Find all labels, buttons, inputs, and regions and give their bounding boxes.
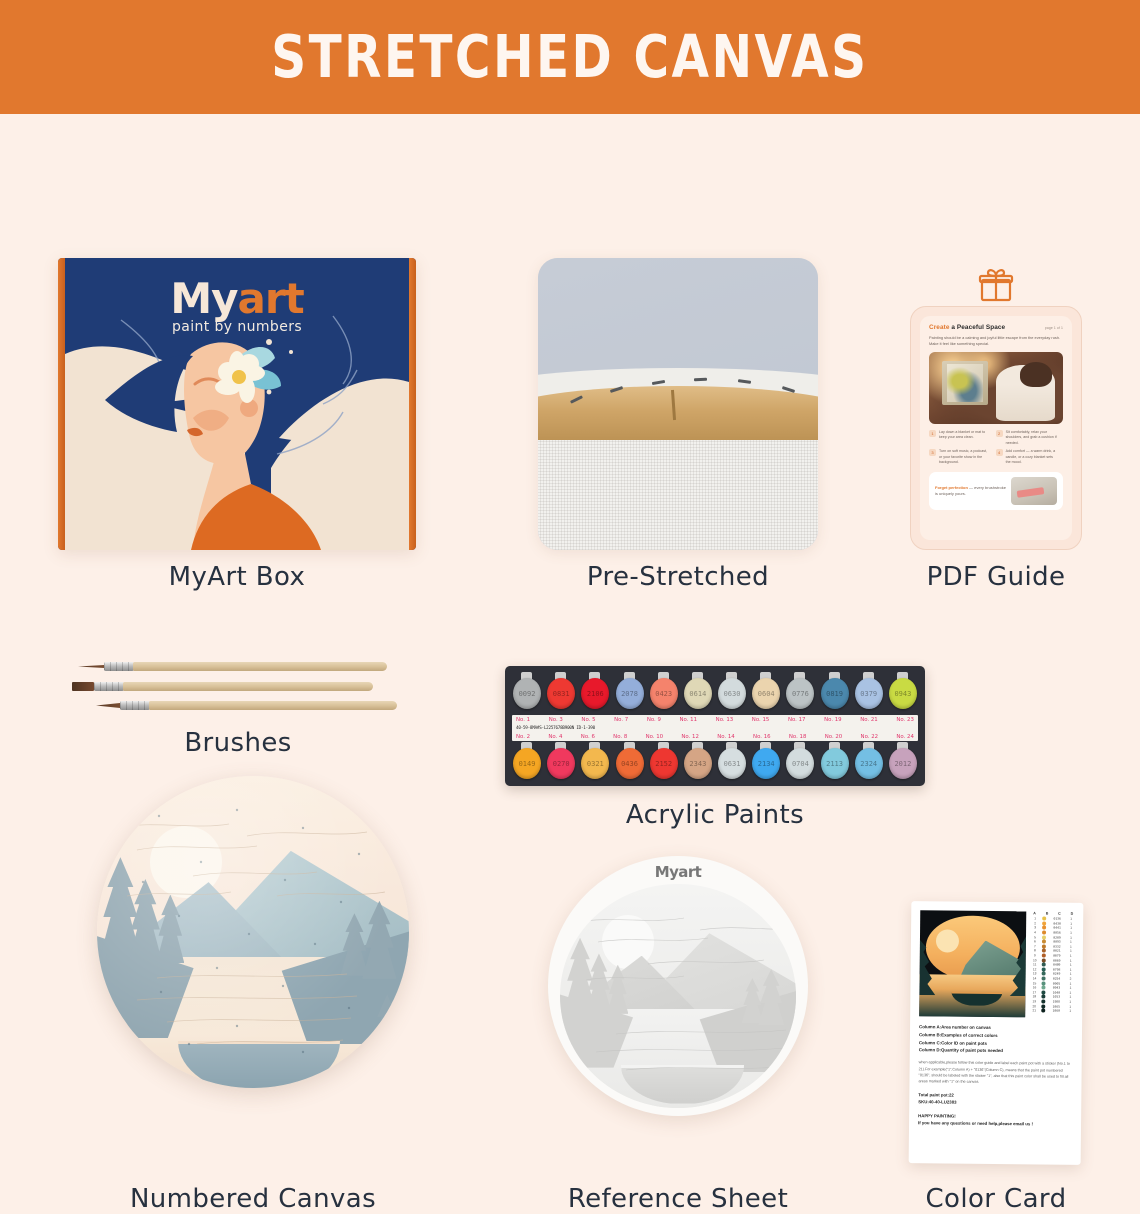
- tip-text: Sit comfortably, relax your shoulders, a…: [1006, 430, 1058, 446]
- tip-badge-icon: 2: [996, 430, 1003, 437]
- paint-row-bottom: 0149027003210436215223430631213407042113…: [512, 742, 918, 784]
- paint-pot-code: 0604: [758, 690, 775, 698]
- brushes-image: [62, 654, 414, 732]
- swatch-area-number: 13: [1032, 972, 1038, 976]
- swatch-area-number: 7: [1032, 944, 1038, 948]
- swatch-color-id: 0441: [1050, 926, 1064, 930]
- paint-pot-code: 0776: [792, 690, 809, 698]
- pdf-tip: 4 Add comfort — a warm drink, a candle, …: [996, 449, 1058, 465]
- pdf-page-number: page 1 of 1: [1045, 326, 1063, 330]
- swatch-quantity: 1: [1068, 922, 1074, 926]
- swatch-color-id: 0069: [1050, 958, 1064, 962]
- pdf-heading-rest: a Peaceful Space: [951, 324, 1005, 331]
- paint-pot-code: 2106: [587, 690, 604, 698]
- color-card-totals: Total paint pot:22 SKU:40-40-LU2383: [918, 1091, 1072, 1107]
- swatch-quantity: 1: [1068, 958, 1074, 962]
- paint-pot-body: 0604: [752, 678, 780, 709]
- paint-pot-body: 2152: [650, 748, 678, 779]
- paint-pot: 0943: [888, 672, 918, 714]
- gift-icon: [976, 266, 1016, 309]
- paint-pot-body: 0704: [786, 748, 814, 779]
- paint-pot-code: 0614: [689, 690, 706, 698]
- brush-ferrule: [104, 662, 134, 671]
- paint-label-number: No. 12: [681, 734, 699, 740]
- paint-label-number: No. 3: [549, 717, 563, 723]
- swatch-area-number: 1: [1032, 917, 1038, 921]
- swatch-area-number: 20: [1031, 1004, 1037, 1008]
- brush-flat: [72, 682, 373, 691]
- pdf-footer-note: Forget perfection — every brushstroke is…: [929, 472, 1063, 510]
- paint-label-number: No. 5: [581, 717, 595, 723]
- pdf-footer-text: Forget perfection — every brushstroke is…: [935, 485, 1006, 497]
- paint-pot: 0149: [512, 742, 542, 784]
- swatch-table-body: 1013612043013044114005615020916009317033…: [1031, 916, 1074, 1013]
- paint-pot-code: 2324: [860, 760, 877, 768]
- paint-pot-body: 2106: [581, 678, 609, 709]
- swatch-color-dot: [1042, 944, 1046, 948]
- legend-line: Column D:Quantity of paint pots needed: [919, 1047, 1073, 1056]
- paint-pot-code: 0321: [587, 760, 604, 768]
- pdf-tip: 3 Turn on soft music, a podcast, or your…: [929, 449, 991, 465]
- pre-stretched-image: [538, 258, 818, 550]
- swatch-color-dot: [1042, 976, 1046, 980]
- swatch-quantity: 1: [1068, 940, 1074, 944]
- swatch-area-number: 12: [1032, 967, 1038, 971]
- pdf-guide-heading: Create a Peaceful Space: [929, 324, 1005, 331]
- paint-pot-code: 0943: [894, 690, 911, 698]
- swatch-color-dot: [1041, 999, 1045, 1003]
- color-swatch-table: ABCD 10136120430130441140056150209160093…: [1031, 911, 1074, 1017]
- pdf-guide-heading-row: Create a Peaceful Space page 1 of 1: [929, 324, 1063, 331]
- paint-label-number: No. 22: [861, 734, 879, 740]
- swatch-area-number: 5: [1032, 935, 1038, 939]
- paint-pot: 0630: [717, 672, 747, 714]
- paint-pot-code: 0149: [519, 760, 536, 768]
- swatch-column-header: D: [1071, 912, 1074, 916]
- swatch-quantity: 1: [1068, 945, 1074, 949]
- tip-badge-icon: 4: [996, 449, 1003, 456]
- paint-label-number: No. 8: [613, 734, 627, 740]
- swatch-quantity: 1: [1068, 954, 1074, 958]
- reference-artwork: [560, 884, 796, 1108]
- pdf-heading-highlight: Create: [929, 324, 950, 331]
- sku-text: SKU:40-40-LU2383: [918, 1098, 1072, 1107]
- swatch-color-id: 0249: [1050, 972, 1064, 976]
- swatch-color-id: 0136: [1050, 917, 1064, 921]
- paint-pot-body: 0631: [718, 748, 746, 779]
- page-header: STRETCHED CANVAS: [0, 0, 1140, 114]
- swatch-area-number: 2: [1032, 921, 1038, 925]
- swatch-quantity: 1: [1068, 935, 1074, 939]
- swatch-color-dot: [1042, 921, 1046, 925]
- paint-pot-body: 2012: [889, 748, 917, 779]
- paint-pot-code: 2343: [689, 760, 706, 768]
- paint-row-top: 0092083121062078042306140630060407760819…: [512, 672, 918, 714]
- brush-handle: [149, 701, 397, 710]
- swatch-quantity: 1: [1068, 931, 1074, 935]
- swatch-color-id: 0409: [1050, 963, 1064, 967]
- paint-pot-body: 0943: [889, 678, 917, 709]
- swatch-color-id: 0209: [1050, 935, 1064, 939]
- swatch-area-number: 19: [1031, 999, 1037, 1003]
- pdf-tip: 2 Sit comfortably, relax your shoulders,…: [996, 430, 1058, 446]
- swatch-quantity: 1: [1068, 972, 1074, 976]
- swatch-column-header: C: [1058, 912, 1061, 916]
- paint-pot: 2343: [683, 742, 713, 784]
- paint-label-number: No. 10: [646, 734, 664, 740]
- swatch-quantity: 1: [1068, 917, 1074, 921]
- swatch-color-id: 1065: [1049, 1004, 1063, 1008]
- swatch-area-number: 6: [1032, 940, 1038, 944]
- swatch-color-id: 1060: [1049, 1009, 1063, 1013]
- paint-pot-code: 0092: [519, 690, 536, 698]
- swatch-quantity: 1: [1067, 995, 1073, 999]
- brush-handle: [123, 682, 373, 691]
- box-logo: Myart paint by numbers: [58, 274, 416, 335]
- paint-pot-body: 2113: [821, 748, 849, 779]
- swatch-color-id: 0021: [1050, 949, 1064, 953]
- wooden-stretcher-bar: [538, 386, 818, 440]
- brush-ferrule: [94, 682, 124, 691]
- swatch-color-id: 1053: [1049, 995, 1063, 999]
- paint-pot: 2078: [615, 672, 645, 714]
- paint-pot-body: 0614: [684, 678, 712, 709]
- numbered-canvas-image: [97, 776, 409, 1088]
- swatch-area-number: 21: [1031, 1009, 1037, 1013]
- paint-pot-body: 0092: [513, 678, 541, 709]
- brush-ferrule: [120, 701, 150, 710]
- caption-numbered-canvas: Numbered Canvas: [75, 1184, 431, 1214]
- tip-badge-icon: 3: [929, 449, 936, 456]
- swatch-quantity: 1: [1068, 926, 1074, 930]
- brush-handle: [133, 662, 387, 671]
- tip-text: Add comfort — a warm drink, a candle, or…: [1006, 449, 1058, 465]
- swatch-area-number: 14: [1032, 976, 1038, 980]
- paint-pot-code: 0630: [724, 690, 741, 698]
- swatch-quantity: 1: [1067, 991, 1073, 995]
- swatch-quantity: 2: [1068, 977, 1074, 981]
- swatch-color-dot: [1041, 990, 1045, 994]
- box-tagline: paint by numbers: [58, 319, 416, 335]
- swatch-area-number: 18: [1031, 995, 1037, 999]
- brush-tip: [72, 682, 94, 691]
- reference-sheet-disc: Myart: [548, 856, 808, 1116]
- paint-label-number: No. 24: [896, 734, 914, 740]
- swatch-color-dot: [1042, 958, 1046, 962]
- paint-pot-body: 0776: [786, 678, 814, 709]
- paint-pot-code: 0436: [621, 760, 638, 768]
- paint-pot: 2134: [751, 742, 781, 784]
- paint-pot-code: 2134: [758, 760, 775, 768]
- paint-label-number: No. 14: [717, 734, 735, 740]
- color-card-closing: HAPPY PAINTING! If you have any question…: [918, 1112, 1072, 1128]
- swatch-color-id: 1040: [1049, 990, 1063, 994]
- paint-pot: 0321: [580, 742, 610, 784]
- paint-pot-body: 0321: [581, 748, 609, 779]
- paint-label-number: No. 7: [614, 717, 628, 723]
- staple: [694, 378, 707, 381]
- paint-pot: 2106: [580, 672, 610, 714]
- swatch-color-id: 0056: [1050, 931, 1064, 935]
- paint-pot-body: 0270: [547, 748, 575, 779]
- paint-label-number: No. 1: [516, 717, 530, 723]
- swatch-quantity: 1: [1068, 981, 1074, 985]
- pdf-footer-highlight: Forget perfection: [935, 485, 968, 490]
- easel-canvas: [942, 361, 988, 406]
- caption-myart-box: MyArt Box: [58, 562, 416, 592]
- pdf-guide-page: Create a Peaceful Space page 1 of 1 Pain…: [920, 316, 1072, 540]
- paint-label-number: No. 21: [860, 717, 878, 723]
- swatch-color-id: 0254: [1050, 977, 1064, 981]
- caption-reference-sheet: Reference Sheet: [545, 1184, 811, 1214]
- paint-pot: 0270: [546, 742, 576, 784]
- swatch-area-number: 8: [1032, 949, 1038, 953]
- brush-tip: [96, 703, 120, 708]
- tip-badge-icon: 1: [929, 430, 936, 437]
- paint-pot-body: 0423: [650, 678, 678, 709]
- swatch-color-id: 0079: [1050, 954, 1064, 958]
- tip-text: Turn on soft music, a podcast, or your f…: [939, 449, 991, 465]
- paint-pot-code: 0379: [860, 690, 877, 698]
- paint-pot-body: 2343: [684, 748, 712, 779]
- color-card-top: ABCD 10136120430130441140056150209160093…: [919, 910, 1074, 1018]
- caption-color-card: Color Card: [896, 1184, 1096, 1214]
- color-card-image: ABCD 10136120430130441140056150209160093…: [909, 901, 1084, 1165]
- numbered-canvas-disc: [97, 776, 409, 1088]
- paint-pot-body: 0819: [821, 678, 849, 709]
- paint-pot-code: 0819: [826, 690, 843, 698]
- swatch-color-id: 1988: [1049, 1000, 1063, 1004]
- gloss-overlay: [97, 776, 409, 1088]
- swatch-quantity: 1: [1068, 949, 1074, 953]
- paint-pot-body: 2134: [752, 748, 780, 779]
- swatch-column-header: A: [1033, 911, 1036, 915]
- paint-label-number: No. 23: [896, 717, 914, 723]
- paint-pot: 0423: [649, 672, 679, 714]
- swatch-area-number: 4: [1032, 930, 1038, 934]
- paint-label-number: No. 20: [825, 734, 843, 740]
- paint-pot: 0092: [512, 672, 542, 714]
- pdf-guide-image: Create a Peaceful Space page 1 of 1 Pain…: [910, 264, 1082, 550]
- paint-pot-code: 0704: [792, 760, 809, 768]
- color-card-legend: Column A:Area number on canvasColumn B:E…: [919, 1023, 1073, 1056]
- swatch-area-number: 11: [1032, 963, 1038, 967]
- paint-pot: 0819: [820, 672, 850, 714]
- paint-pot-code: 2078: [621, 690, 638, 698]
- paint-label-number: No. 6: [581, 734, 595, 740]
- paint-label-number: No. 4: [548, 734, 562, 740]
- paint-label-strip: No. 1No. 3No. 5No. 7No. 9No. 11No. 13No.…: [512, 715, 918, 741]
- paint-pot-code: 2152: [655, 760, 672, 768]
- paint-label-number: No. 16: [753, 734, 771, 740]
- paint-pot: 2152: [649, 742, 679, 784]
- paint-pot: 0704: [785, 742, 815, 784]
- swatch-area-number: 9: [1032, 953, 1038, 957]
- swatch-color-id: 0093: [1050, 940, 1064, 944]
- pdf-tips-list: 1 Lay down a blanket or mat to keep your…: [929, 430, 1063, 465]
- paint-label-number: No. 13: [716, 717, 734, 723]
- swatch-color-id: 0905: [1050, 981, 1064, 985]
- myart-box-image: Myart paint by numbers: [58, 258, 416, 550]
- swatch-color-id: 0430: [1050, 921, 1064, 925]
- tip-text: Lay down a blanket or mat to keep your a…: [939, 430, 991, 446]
- pdf-tip: 1 Lay down a blanket or mat to keep your…: [929, 430, 991, 446]
- paint-pot: 0614: [683, 672, 713, 714]
- pdf-photo: [929, 352, 1063, 424]
- paint-pot-code: 0631: [724, 760, 741, 768]
- label-numbers-bottom: No. 2No. 4No. 6No. 8No. 10No. 12No. 14No…: [516, 734, 914, 740]
- label-numbers-top: No. 1No. 3No. 5No. 7No. 9No. 11No. 13No.…: [516, 717, 914, 723]
- swatch-color-dot: [1041, 1009, 1045, 1013]
- brush-tip: [78, 665, 104, 668]
- swatch-color-dot: [1042, 954, 1046, 958]
- color-card-note: when applicable,please follow this color…: [918, 1060, 1072, 1087]
- logo-my-text: My: [170, 274, 237, 323]
- paint-pot: 2324: [854, 742, 884, 784]
- page-title: STRETCHED CANVAS: [271, 23, 868, 91]
- paint-pot: 2113: [820, 742, 850, 784]
- paint-label-number: No. 19: [824, 717, 842, 723]
- paint-pot-body: 0831: [547, 678, 575, 709]
- paint-pot: 0631: [717, 742, 747, 784]
- product-feature-grid: Myart paint by numbers MyArt Box Pre-Str…: [0, 114, 1140, 1140]
- brush-round: [78, 662, 387, 671]
- reference-sheet-logo: Myart: [548, 863, 808, 881]
- swatch-color-dot: [1042, 967, 1046, 971]
- caption-pdf-guide: PDF Guide: [896, 562, 1096, 592]
- swatch-color-id: 0943: [1049, 986, 1063, 990]
- swatch-quantity: 1: [1067, 1009, 1073, 1013]
- swatch-color-dot: [1041, 1004, 1045, 1008]
- reference-outlines: [560, 884, 796, 1108]
- paint-pot: 0831: [546, 672, 576, 714]
- paint-pot-body: 0379: [855, 678, 883, 709]
- paint-pot-body: 0149: [513, 748, 541, 779]
- paint-pot: 2012: [888, 742, 918, 784]
- swatch-row: 2110601: [1031, 1008, 1073, 1013]
- swatch-area-number: 15: [1032, 981, 1038, 985]
- paint-label-number: No. 2: [516, 734, 530, 740]
- paint-pot-body: 0436: [616, 748, 644, 779]
- paint-pot-code: 2113: [826, 760, 843, 768]
- caption-brushes: Brushes: [62, 728, 414, 758]
- acrylic-paints-image: 0092083121062078042306140630060407760819…: [505, 666, 925, 786]
- swatch-area-number: 16: [1031, 986, 1037, 990]
- paint-label-number: No. 15: [752, 717, 770, 723]
- paint-pot-code: 0831: [553, 690, 570, 698]
- swatch-color-id: 0332: [1050, 944, 1064, 948]
- swatch-quantity: 1: [1067, 986, 1073, 990]
- paint-pot: 0379: [854, 672, 884, 714]
- swatch-quantity: 1: [1067, 1004, 1073, 1008]
- label-barcode-text: 40-59-8MA#S-L2257678B900N ID-1-390: [516, 725, 595, 730]
- paint-pot-body: 2324: [855, 748, 883, 779]
- contact-text: If you have any questions or need help,p…: [918, 1119, 1072, 1128]
- caption-acrylic-paints: Acrylic Paints: [505, 800, 925, 830]
- paint-pot-code: 0270: [553, 760, 570, 768]
- swatch-color-id: 0798: [1050, 967, 1064, 971]
- swatch-area-number: 17: [1031, 990, 1037, 994]
- swatch-color-dot: [1042, 981, 1046, 985]
- swatch-quantity: 1: [1067, 1000, 1073, 1004]
- color-card-artwork: [919, 910, 1026, 1017]
- paint-label-number: No. 11: [680, 717, 698, 723]
- swatch-color-dot: [1042, 935, 1046, 939]
- logo-art-text: art: [238, 274, 304, 323]
- paint-pot-body: 2078: [616, 678, 644, 709]
- swatch-column-header: B: [1046, 912, 1049, 916]
- swatch-quantity: 1: [1068, 963, 1074, 967]
- pdf-intro-text: Painting should be a calming and joyful …: [929, 335, 1063, 347]
- paint-label-number: No. 18: [789, 734, 807, 740]
- swatch-quantity: 1: [1068, 968, 1074, 972]
- swatch-area-number: 3: [1032, 926, 1038, 930]
- paint-pot: 0436: [615, 742, 645, 784]
- paint-label-number: No. 17: [788, 717, 806, 723]
- paint-label-number: No. 9: [647, 717, 661, 723]
- painter-hair: [1020, 362, 1052, 386]
- paint-pot: 0776: [785, 672, 815, 714]
- paint-pot-code: 0423: [655, 690, 672, 698]
- reference-sheet-image: Myart: [548, 856, 808, 1116]
- paint-pot-code: 2012: [894, 760, 911, 768]
- pdf-footer-thumbnail: [1011, 477, 1057, 505]
- paint-pot: 0604: [751, 672, 781, 714]
- brush-fine-liner: [96, 701, 397, 710]
- swatch-area-number: 10: [1032, 958, 1038, 962]
- paint-pot-body: 0630: [718, 678, 746, 709]
- pdf-guide-card: Create a Peaceful Space page 1 of 1 Pain…: [910, 306, 1082, 550]
- caption-pre-stretched: Pre-Stretched: [538, 562, 818, 592]
